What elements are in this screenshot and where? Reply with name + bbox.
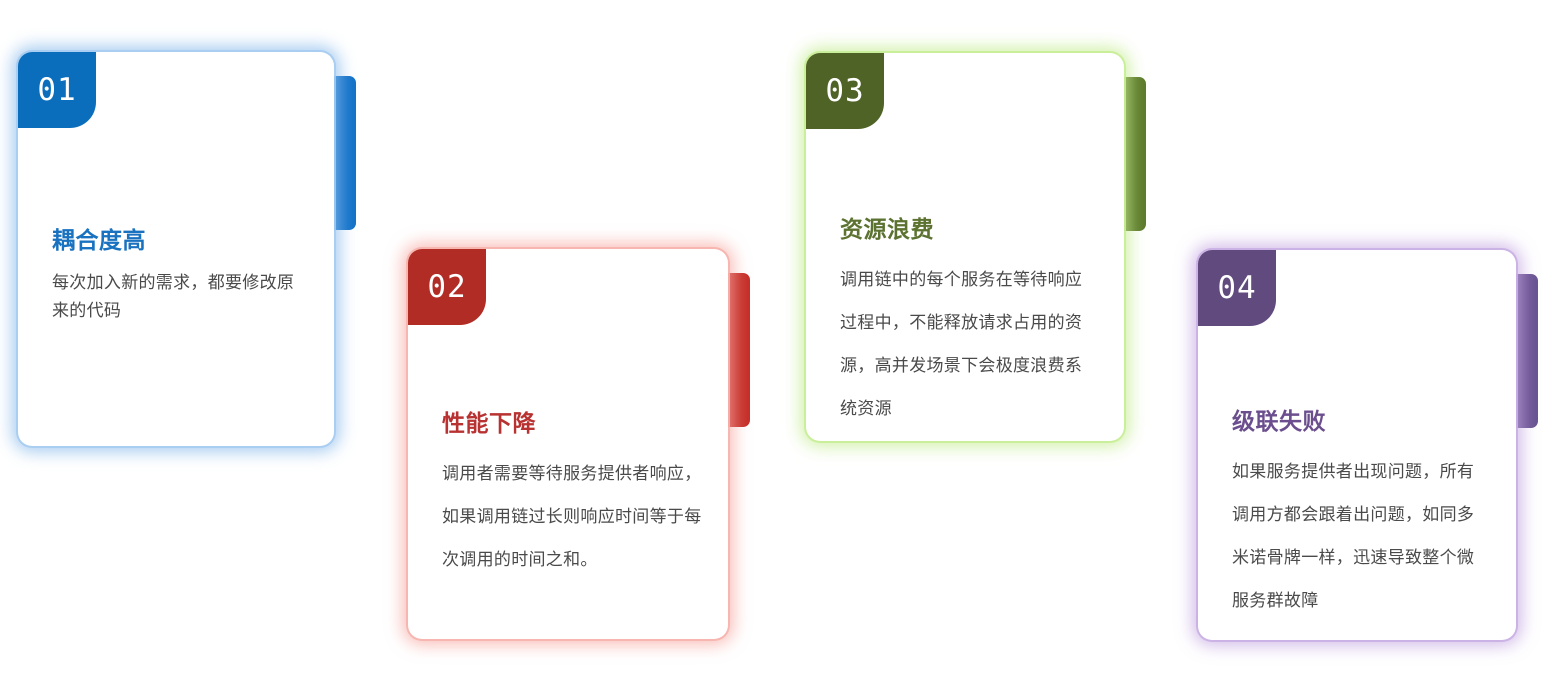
card-number-label: 03 [825,76,864,107]
info-card-03[interactable]: 03 资源浪费 调用链中的每个服务在等待响应过程中，不能释放请求占用的资源，高并… [806,53,1124,441]
card-surface: 01 耦合度高 每次加入新的需求，都要修改原来的代码 [18,52,334,446]
card-body: 级联失败 如果服务提供者出现问题，所有调用方都会跟着出问题，如同多米诺骨牌一样，… [1232,408,1490,622]
card-title: 级联失败 [1232,408,1490,436]
card-surface: 04 级联失败 如果服务提供者出现问题，所有调用方都会跟着出问题，如同多米诺骨牌… [1198,250,1516,640]
card-number-label: 02 [427,272,466,303]
cards-stage: 01 耦合度高 每次加入新的需求，都要修改原来的代码 02 性能下降 调用者需要… [0,0,1556,678]
card-number-badge: 02 [408,249,486,325]
card-title: 性能下降 [442,410,702,438]
card-body: 耦合度高 每次加入新的需求，都要修改原来的代码 [52,227,308,325]
card-body: 资源浪费 调用链中的每个服务在等待响应过程中，不能释放请求占用的资源，高并发场景… [840,216,1098,430]
card-surface: 02 性能下降 调用者需要等待服务提供者响应，如果调用链过长则响应时间等于每次调… [408,249,728,639]
card-number-badge: 01 [18,52,96,128]
info-card-04[interactable]: 04 级联失败 如果服务提供者出现问题，所有调用方都会跟着出问题，如同多米诺骨牌… [1198,250,1516,640]
card-number-label: 04 [1217,273,1256,304]
card-description: 如果服务提供者出现问题，所有调用方都会跟着出问题，如同多米诺骨牌一样，迅速导致整… [1232,450,1490,622]
card-number-badge: 04 [1198,250,1276,326]
card-number-label: 01 [37,75,76,106]
card-description: 每次加入新的需求，都要修改原来的代码 [52,269,308,325]
card-title: 耦合度高 [52,227,308,255]
card-description: 调用者需要等待服务提供者响应，如果调用链过长则响应时间等于每次调用的时间之和。 [442,452,702,581]
card-description: 调用链中的每个服务在等待响应过程中，不能释放请求占用的资源，高并发场景下会极度浪… [840,258,1098,430]
info-card-02[interactable]: 02 性能下降 调用者需要等待服务提供者响应，如果调用链过长则响应时间等于每次调… [408,249,728,639]
card-title: 资源浪费 [840,216,1098,244]
info-card-01[interactable]: 01 耦合度高 每次加入新的需求，都要修改原来的代码 [18,52,334,446]
card-surface: 03 资源浪费 调用链中的每个服务在等待响应过程中，不能释放请求占用的资源，高并… [806,53,1124,441]
card-body: 性能下降 调用者需要等待服务提供者响应，如果调用链过长则响应时间等于每次调用的时… [442,410,702,581]
card-number-badge: 03 [806,53,884,129]
